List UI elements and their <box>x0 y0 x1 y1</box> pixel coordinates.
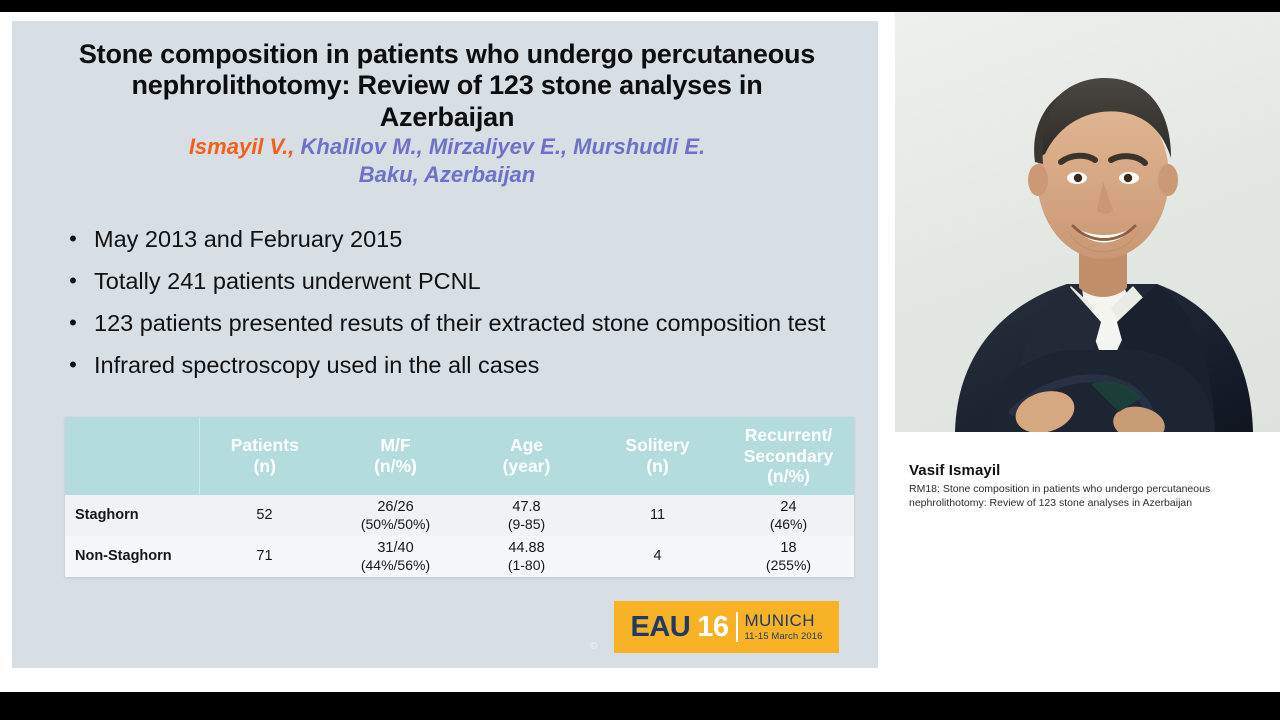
video-player-viewport: Stone composition in patients who underg… <box>0 0 1280 720</box>
table-cell-solitery: 4 <box>592 536 723 577</box>
table-header-blank <box>65 417 199 495</box>
slide-surface: Stone composition in patients who underg… <box>12 21 878 668</box>
list-item: • Infrared spectroscopy used in the all … <box>52 347 852 383</box>
table-header-row: Patients (n) M/F (n/%) Age (year) <box>65 417 854 495</box>
table-cell-recurrent: 18 (255%) <box>723 536 854 577</box>
slide-bullet-list: • May 2013 and February 2015 • Totally 2… <box>52 221 852 389</box>
slide-watermark: © <box>590 641 597 652</box>
table-cell-mf: 31/40 (44%/56%) <box>330 536 461 577</box>
logo-divider <box>736 612 738 642</box>
table-cell-label: Staghorn <box>65 495 199 536</box>
letterbox-bar-top <box>0 0 1280 12</box>
slide-authors: Ismayil V., Khalilov M., Mirzaliyev E., … <box>72 133 822 188</box>
speaker-description: RM18: Stone composition in patients who … <box>909 483 1229 511</box>
slide-title: Stone composition in patients who underg… <box>72 39 822 133</box>
stone-composition-table: Patients (n) M/F (n/%) Age (year) <box>65 417 854 577</box>
table-cell-patients: 52 <box>199 495 330 536</box>
speaker-meta: Vasif Ismayil RM18: Stone composition in… <box>895 432 1280 511</box>
bullet-point-icon: • <box>52 263 94 299</box>
list-item: • May 2013 and February 2015 <box>52 221 852 257</box>
logo-dates-text: 11-15 March 2016 <box>745 632 823 642</box>
speaker-panel: Vasif Ismayil RM18: Stone composition in… <box>895 12 1280 692</box>
table-cell-age: 44.88 (1-80) <box>461 536 592 577</box>
table-header-solitery: Solitery (n) <box>592 417 723 495</box>
table-cell-patients: 71 <box>199 536 330 577</box>
table-cell-age: 47.8 (9-85) <box>461 495 592 536</box>
list-item: • 123 patients presented resuts of their… <box>52 305 852 341</box>
table-row: Non-Staghorn 71 31/40 (44%/56%) 44.88 (1… <box>65 536 854 577</box>
table-row: Staghorn 52 26/26 (50%/50%) 47.8 (9-85) <box>65 495 854 536</box>
letterbox-bar-bottom <box>0 692 1280 720</box>
table-cell-mf: 26/26 (50%/50%) <box>330 495 461 536</box>
bullet-text: Infrared spectroscopy used in the all ca… <box>94 347 852 382</box>
speaker-photo <box>895 12 1280 432</box>
table-cell-solitery: 11 <box>592 495 723 536</box>
logo-city-text: MUNICH <box>745 612 823 629</box>
speaker-portrait-illustration <box>895 12 1280 432</box>
bullet-point-icon: • <box>52 347 94 383</box>
list-item: • Totally 241 patients underwent PCNL <box>52 263 852 299</box>
logo-brand-text: EAU <box>631 613 691 642</box>
slide-affiliation: Baku, Azerbaijan <box>359 162 535 187</box>
table-header-patients: Patients (n) <box>199 417 330 495</box>
table-cell-label: Non-Staghorn <box>65 536 199 577</box>
table-header-mf: M/F (n/%) <box>330 417 461 495</box>
presentation-stage: Stone composition in patients who underg… <box>0 12 1280 692</box>
author-coauthors: Khalilov M., Mirzaliyev E., Murshudli E. <box>294 134 705 159</box>
bullet-point-icon: • <box>52 221 94 257</box>
logo-year-text: 16 <box>697 613 728 642</box>
eau16-congress-logo: EAU 16 MUNICH 11-15 March 2016 <box>614 601 839 653</box>
table-cell-recurrent: 24 (46%) <box>723 495 854 536</box>
bullet-text: Totally 241 patients underwent PCNL <box>94 263 852 298</box>
bullet-point-icon: • <box>52 305 94 341</box>
slide-card[interactable]: Stone composition in patients who underg… <box>0 12 902 692</box>
bullet-text: May 2013 and February 2015 <box>94 221 852 256</box>
speaker-name: Vasif Ismayil <box>909 462 1266 479</box>
table-header-age: Age (year) <box>461 417 592 495</box>
bullet-text: 123 patients presented resuts of their e… <box>94 305 852 340</box>
author-presenting: Ismayil V., <box>189 134 295 159</box>
table-header-recurrent: Recurrent/ Secondary (n/%) <box>723 417 854 495</box>
